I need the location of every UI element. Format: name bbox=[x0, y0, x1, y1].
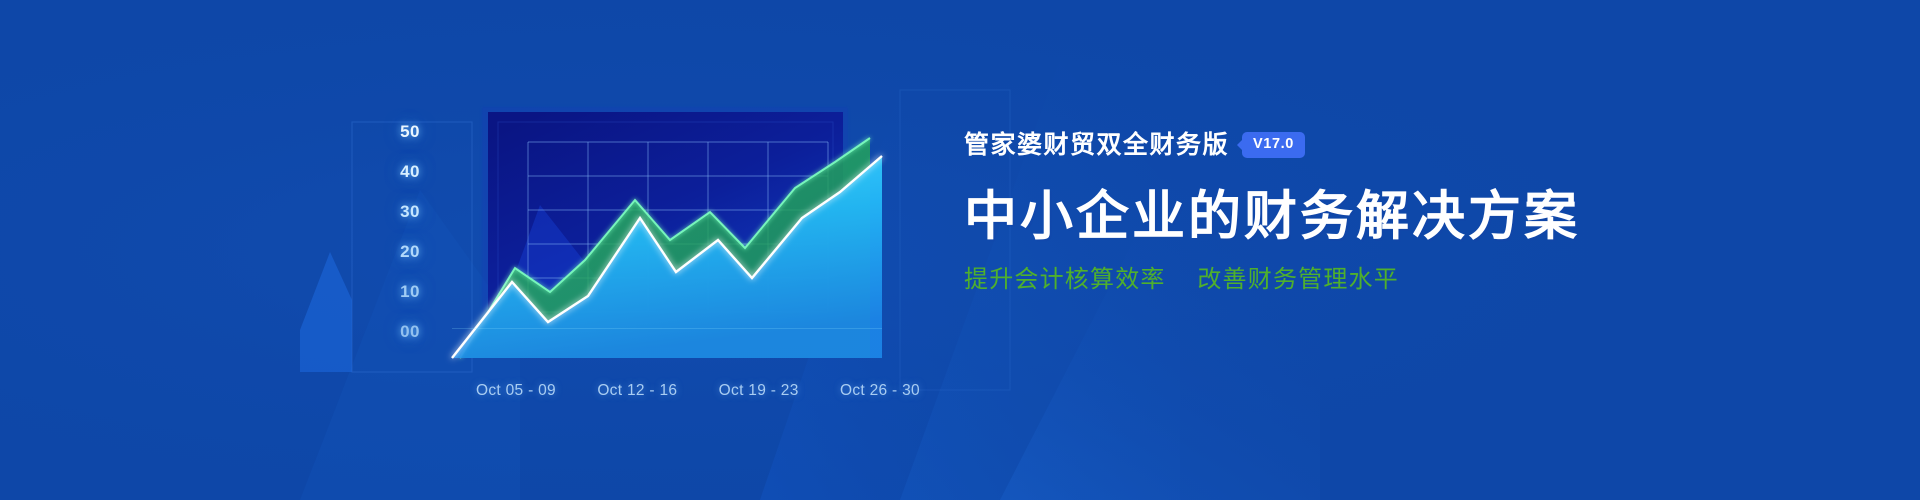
x-tick-0: Oct 05 - 09 bbox=[476, 382, 556, 400]
x-tick-3: Oct 26 - 30 bbox=[840, 382, 920, 400]
x-tick-1: Oct 12 - 16 bbox=[597, 382, 677, 400]
brand-name: 管家婆财贸双全财务版 bbox=[964, 133, 1229, 158]
chart-y-axis: 50 40 30 20 10 00 bbox=[380, 100, 420, 360]
subheadline-part-1: 提升会计核算效率 bbox=[964, 266, 1166, 293]
subheadline-part-2: 改善财务管理水平 bbox=[1197, 266, 1399, 293]
chart-x-axis: Oct 05 - 09 Oct 12 - 16 Oct 19 - 23 Oct … bbox=[476, 378, 920, 404]
background-shapes-svg bbox=[0, 0, 1920, 500]
background-decoration bbox=[0, 0, 1920, 500]
brand-row: 管家婆财贸双全财务版 V17.0 bbox=[964, 128, 1604, 162]
banner-copy: 管家婆财贸双全财务版 V17.0 中小企业的财务解决方案 提升会计核算效率 改善… bbox=[964, 128, 1604, 358]
y-tick-10: 10 bbox=[380, 282, 420, 302]
y-tick-50: 50 bbox=[380, 122, 420, 142]
x-tick-2: Oct 19 - 23 bbox=[719, 382, 799, 400]
subheadline: 提升会计核算效率 改善财务管理水平 bbox=[964, 267, 1604, 293]
page-title: 中小企业的财务解决方案 bbox=[964, 189, 1604, 245]
chart-plot-area bbox=[420, 100, 920, 390]
growth-chart: 50 40 30 20 10 00 bbox=[380, 100, 920, 400]
version-badge: V17.0 bbox=[1242, 132, 1305, 158]
y-tick-30: 30 bbox=[380, 202, 420, 222]
y-tick-40: 40 bbox=[380, 162, 420, 182]
y-tick-20: 20 bbox=[380, 242, 420, 262]
promo-banner: 50 40 30 20 10 00 bbox=[0, 0, 1920, 500]
y-tick-00: 00 bbox=[380, 322, 420, 342]
